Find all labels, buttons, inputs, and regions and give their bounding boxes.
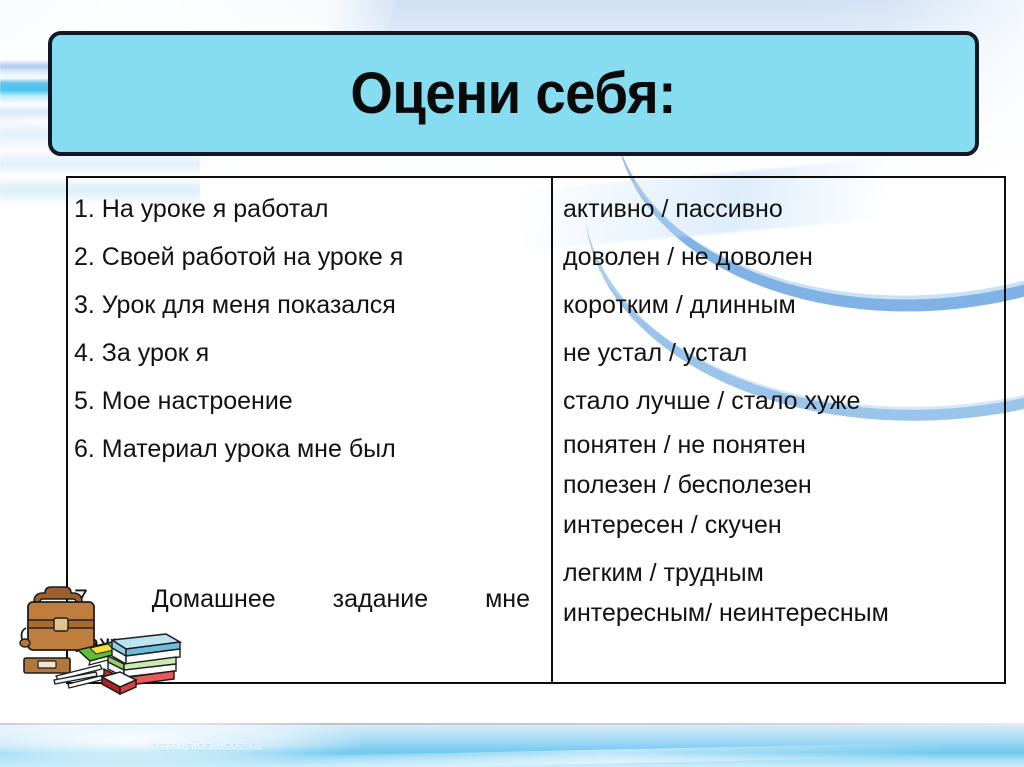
table-row-option: стало лучше / стало хуже (563, 377, 994, 425)
slide-canvas: Оцени себя: 1. На уроке я работал 2. Сво… (0, 0, 1024, 767)
table-row-option: интересным/ неинтересным (563, 593, 994, 633)
table-row-homework: 7. Домашнее задание мне кажется (74, 577, 530, 667)
table-column-statements: 1. На уроке я работал 2. Своей работой н… (68, 178, 553, 682)
table-row-option: понятен / не понятен (563, 425, 994, 465)
watermark-url: http://aida.ucoz.ru (151, 738, 262, 753)
table-row-option: коротким / длинным (563, 281, 994, 329)
table-row: 3. Урок для меня показался (74, 281, 539, 329)
right-column-spacer (563, 545, 994, 553)
table-row: 4. За урок я (74, 329, 539, 377)
table-row-option: интересен / скучен (563, 505, 994, 545)
background-bottom-divider (0, 723, 1024, 725)
table-row-option: легким / трудным (563, 553, 994, 593)
table-column-options: активно / пассивно доволен / не доволен … (553, 178, 1004, 682)
table-row-option: активно / пассивно (563, 185, 994, 233)
homework-line-1: 7. Домашнее задание мне (74, 585, 530, 613)
table-row-option: полезен / бесполезен (563, 465, 994, 505)
left-column-spacer (74, 473, 539, 577)
title-box: Оцени себя: (48, 31, 979, 156)
table-row: 6. Материал урока мне был (74, 425, 539, 473)
page-title: Оцени себя: (351, 65, 677, 123)
table-row: 2. Своей работой на уроке я (74, 233, 539, 281)
table-row: 1. На уроке я работал (74, 185, 539, 233)
background-bottom-streak (300, 740, 1024, 767)
self-assessment-table: 1. На уроке я работал 2. Своей работой н… (66, 176, 1006, 684)
table-row-option: доволен / не доволен (563, 233, 994, 281)
table-row: 5. Мое настроение (74, 377, 539, 425)
homework-line-2: кажется (74, 622, 530, 667)
table-row-option: не устал / устал (563, 329, 994, 377)
